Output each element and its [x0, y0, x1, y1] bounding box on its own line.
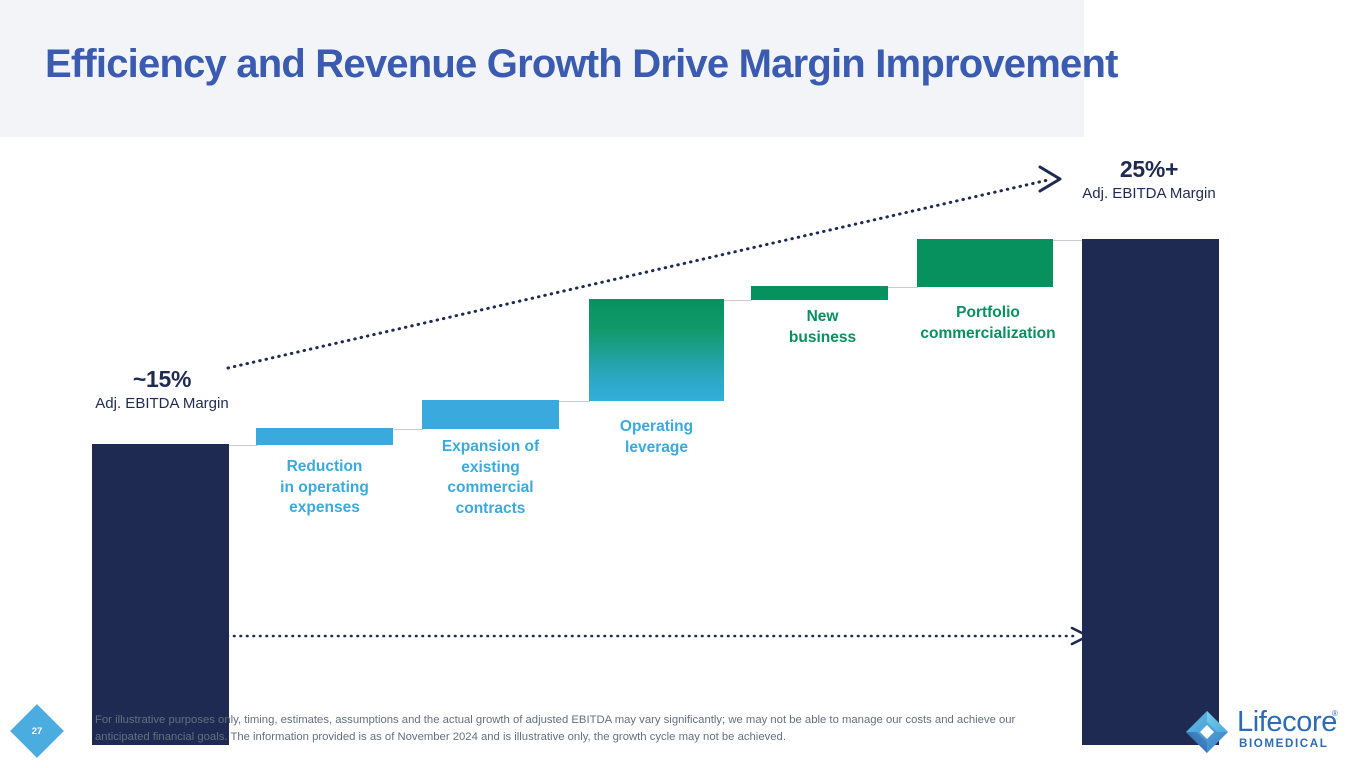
- connector-reduction-top: [227, 445, 258, 446]
- lifecore-biomedical-logo: Lifecore ® BIOMEDICAL: [1183, 706, 1348, 758]
- bar-label-line: in operating: [256, 478, 393, 499]
- bar-label-line: leverage: [588, 438, 725, 459]
- bar-new-business[interactable]: [751, 286, 888, 300]
- bar-label-line: commercial: [422, 478, 559, 499]
- page-number-badge: 27: [10, 704, 64, 758]
- bar-fy2025[interactable]: [92, 444, 229, 745]
- bar-label-new-business: New business: [754, 307, 891, 348]
- bar-operating-leverage[interactable]: [589, 299, 724, 401]
- bar-label-line: Reduction: [256, 457, 393, 478]
- bar-expansion-of-existing-commercial-contracts[interactable]: [422, 400, 559, 429]
- axis-label-start: FY 2025: [132, 626, 194, 645]
- bar-label-line: expenses: [256, 498, 393, 519]
- bar-label-line: Expansion of: [422, 437, 559, 458]
- logo-trademark-symbol: ®: [1332, 709, 1338, 718]
- slide-canvas: Efficiency and Revenue Growth Drive Marg…: [0, 0, 1365, 768]
- bar-label-operating-leverage: Operating leverage: [588, 417, 725, 458]
- bar-label-reduction: Reduction in operating expenses: [256, 457, 393, 519]
- bar-portfolio-commercialization[interactable]: [917, 239, 1053, 287]
- bar-label-line: Operating: [588, 417, 725, 438]
- connector-expansion-operating: [558, 401, 590, 402]
- bar-reduction-in-operating-expenses[interactable]: [256, 428, 393, 445]
- page-number: 27: [18, 712, 56, 750]
- axis-label-end: Mid-Term: [1106, 626, 1179, 645]
- logo-subtitle: BIOMEDICAL: [1239, 737, 1328, 750]
- page-title: Efficiency and Revenue Growth Drive Marg…: [45, 40, 1075, 88]
- bar-label-expansion: Expansion of existing commercial contrac…: [422, 437, 559, 519]
- connector-reduction-expansion: [392, 429, 423, 430]
- start-value-callout: ~15% Adj. EBITDA Margin: [72, 365, 252, 415]
- start-value-subtitle: Adj. EBITDA Margin: [72, 393, 252, 415]
- connector-operating-newbusiness: [723, 300, 752, 301]
- end-value-callout: 25%+ Adj. EBITDA Margin: [1059, 155, 1239, 205]
- bar-mid-term[interactable]: [1082, 239, 1219, 745]
- connector-portfolio-midterm: [1052, 240, 1083, 241]
- lifecore-diamond-icon: [1183, 708, 1231, 756]
- footnote-text: For illustrative purposes only, timing, …: [95, 712, 1070, 745]
- start-value: ~15%: [72, 365, 252, 393]
- bar-label-line: business: [754, 328, 891, 349]
- waterfall-chart: Reduction in operating expenses Expansio…: [0, 137, 1365, 677]
- bar-label-line: Portfolio: [903, 303, 1073, 324]
- bar-label-line: existing: [422, 458, 559, 479]
- logo-wordmark: Lifecore: [1237, 706, 1337, 738]
- end-value-subtitle: Adj. EBITDA Margin: [1059, 183, 1239, 205]
- connector-newbusiness-portfolio: [887, 287, 918, 288]
- bar-label-line: New: [754, 307, 891, 328]
- bar-label-line: commercialization: [903, 324, 1073, 345]
- bar-label-line: contracts: [422, 499, 559, 520]
- bar-label-portfolio-commercialization: Portfolio commercialization: [903, 303, 1073, 344]
- end-value: 25%+: [1059, 155, 1239, 183]
